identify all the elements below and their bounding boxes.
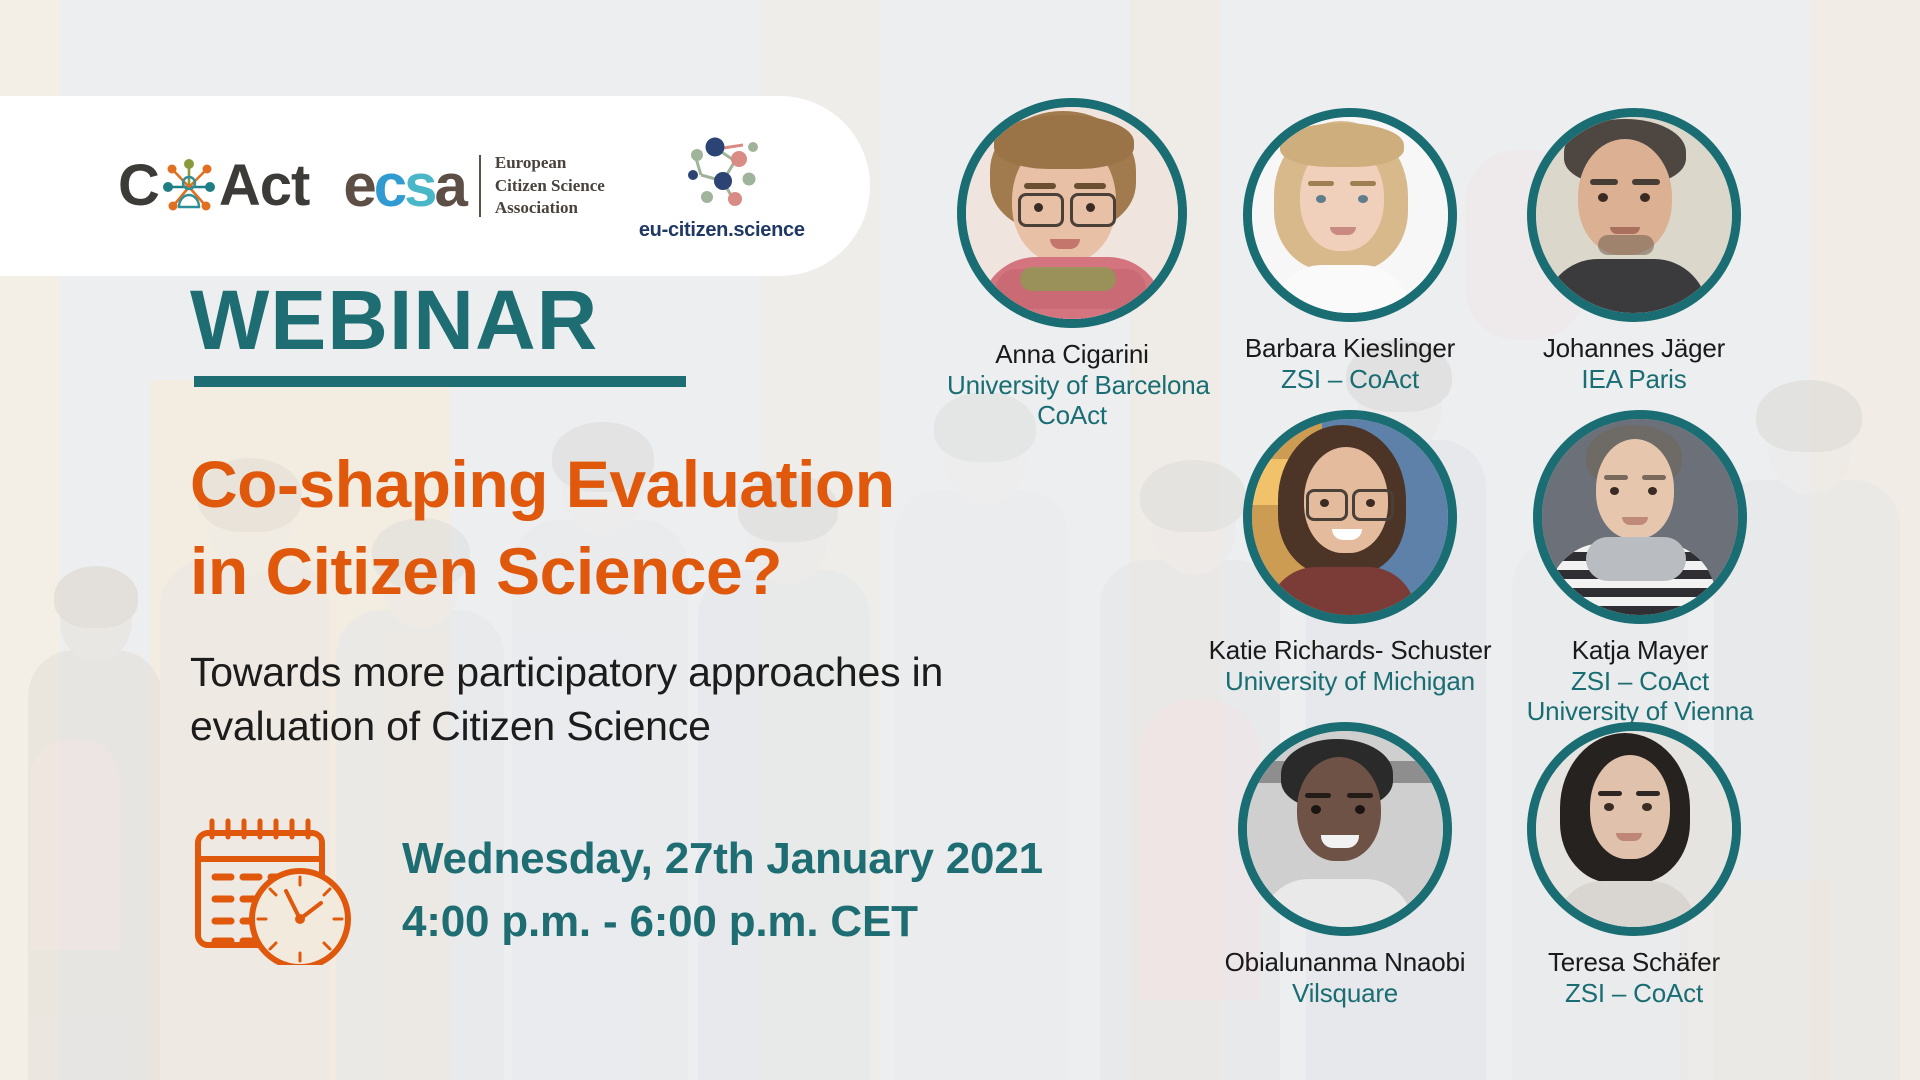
- speaker-name: Katja Mayer: [1495, 635, 1785, 666]
- speaker-affiliation: CoAct: [947, 400, 1197, 431]
- ecsa-wordmark: ecsa: [343, 156, 465, 216]
- poster-canvas: C: [0, 0, 1920, 1080]
- avatar: [1533, 410, 1747, 624]
- avatar: [1243, 108, 1457, 322]
- avatar: [1238, 722, 1452, 936]
- ecsa-letter-s: s: [404, 152, 434, 219]
- speaker-name: Barbara Kieslinger: [1225, 333, 1475, 364]
- speaker-name: Teresa Schäfer: [1509, 947, 1759, 978]
- speaker-name: Katie Richards- Schuster: [1190, 635, 1510, 666]
- portrait-photo: [1252, 117, 1448, 313]
- calendar-clock-icon: [190, 815, 360, 965]
- ecsa-subtitle: European Citizen Science Association: [495, 152, 605, 219]
- speaker-affiliation: ZSI – CoAct: [1225, 364, 1475, 395]
- ecsa-letter-a: a: [434, 152, 464, 219]
- eu-citizen-science-logo: eu-citizen.science: [639, 131, 805, 242]
- speaker-affiliation: Vilsquare: [1190, 978, 1500, 1009]
- partner-logo-card: C: [0, 96, 870, 276]
- ecsa-letter-c: c: [374, 152, 404, 219]
- portrait-photo: [1252, 419, 1448, 615]
- portrait-photo: [1536, 731, 1732, 927]
- speaker-card: Katja Mayer ZSI – CoAct University of Vi…: [1495, 410, 1785, 727]
- speaker-card: Barbara Kieslinger ZSI – CoAct: [1225, 108, 1475, 394]
- portrait-photo: [966, 107, 1178, 319]
- speaker-card: Obialunanma Nnaobi Vilsquare: [1190, 722, 1500, 1008]
- speaker-card: Katie Richards- Schuster University of M…: [1190, 410, 1510, 696]
- coact-logo-post: Act: [219, 157, 309, 215]
- molecule-network-icon: [673, 131, 771, 215]
- portrait-photo: [1536, 117, 1732, 313]
- eu-citizen-science-wordmark: eu-citizen.science: [639, 219, 805, 242]
- speaker-affiliation: ZSI – CoAct: [1509, 978, 1759, 1009]
- speaker-grid: Anna Cigarini University of Barcelona Co…: [905, 70, 1920, 1080]
- coact-network-icon: [161, 157, 217, 215]
- avatar: [1527, 108, 1741, 322]
- speaker-affiliation: University of Michigan: [1190, 666, 1510, 697]
- speaker-name: Johannes Jäger: [1509, 333, 1759, 364]
- ecsa-divider: [479, 155, 481, 217]
- webinar-underline: [194, 376, 686, 387]
- ecsa-letter-e: e: [343, 152, 373, 219]
- speaker-card: Teresa Schäfer ZSI – CoAct: [1509, 722, 1759, 1008]
- avatar: [1527, 722, 1741, 936]
- speaker-affiliation: University of Barcelona: [947, 370, 1197, 401]
- speaker-affiliation: ZSI – CoAct: [1495, 666, 1785, 697]
- ecsa-subtitle-line-2: Citizen Science: [495, 175, 605, 197]
- speaker-card: Johannes Jäger IEA Paris: [1509, 108, 1759, 394]
- ecsa-logo: ecsa European Citizen Science Associatio…: [343, 152, 605, 219]
- ecsa-subtitle-line-1: European: [495, 152, 605, 174]
- speaker-name: Anna Cigarini: [947, 339, 1197, 370]
- coact-logo: C: [118, 157, 309, 215]
- portrait-photo: [1542, 419, 1738, 615]
- speaker-name: Obialunanma Nnaobi: [1190, 947, 1500, 978]
- avatar: [957, 98, 1187, 328]
- speaker-affiliation: IEA Paris: [1509, 364, 1759, 395]
- portrait-photo: [1247, 731, 1443, 927]
- coact-logo-pre: C: [118, 157, 159, 215]
- avatar: [1243, 410, 1457, 624]
- ecsa-subtitle-line-3: Association: [495, 197, 605, 219]
- speaker-card: Anna Cigarini University of Barcelona Co…: [947, 98, 1197, 431]
